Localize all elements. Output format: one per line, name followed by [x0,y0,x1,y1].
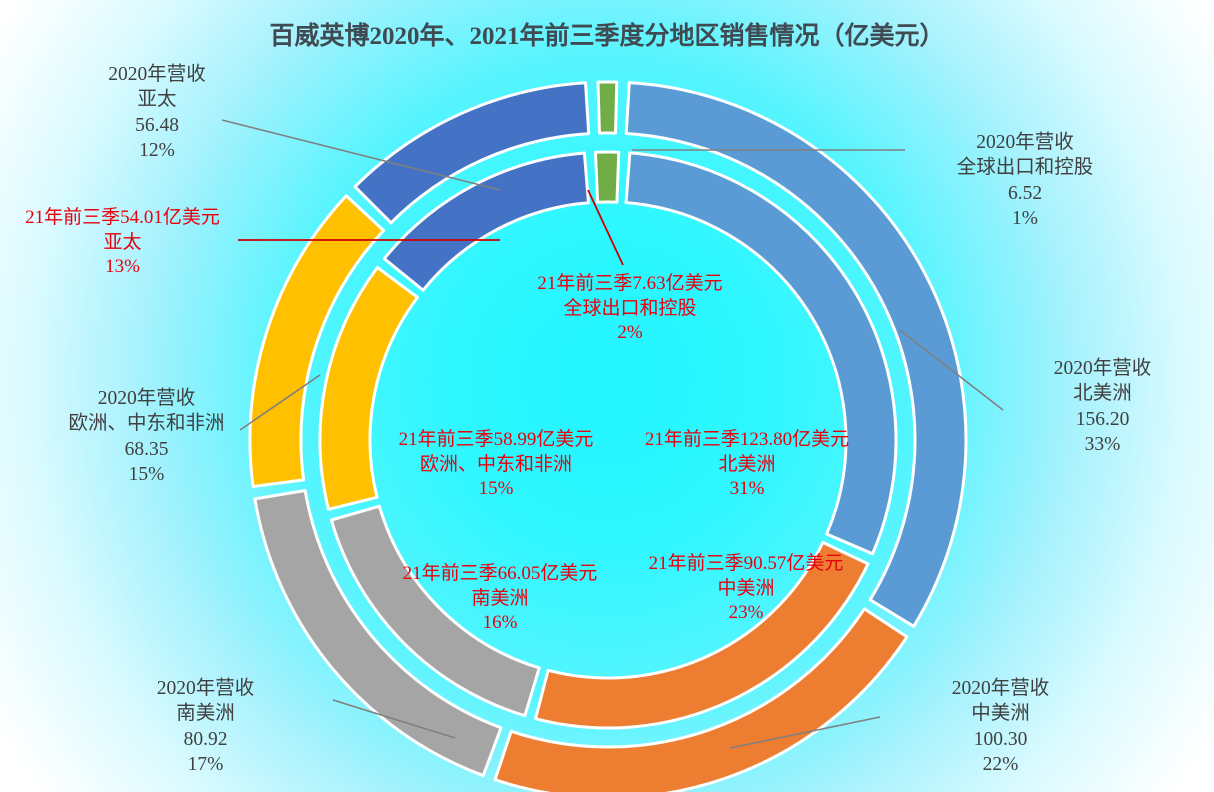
label-percent: 23% [628,601,864,626]
label-percent: 22% [888,752,1113,777]
label-percent: 17% [93,752,318,777]
label-series: 2020年营收 [900,130,1150,155]
label-region: 中美洲 [628,577,864,602]
label-2020-south-america: 2020年营收 南美洲 80.92 17% [93,676,318,777]
label-2020-global-export: 2020年营收 全球出口和控股 6.52 1% [900,130,1150,231]
label-value: 156.20 [995,407,1210,432]
label-value: 21年前三季7.63亿美元 [505,272,755,297]
label-percent: 13% [5,255,240,280]
label-percent: 16% [382,611,618,636]
chart-canvas: 百威英博2020年、2021年前三季度分地区销售情况（亿美元） 2020年营收 … [0,0,1214,792]
label-2020-emea: 2020年营收 欧洲、中东和非洲 68.35 15% [29,386,264,487]
label-2020-asia-pacific: 2020年营收 亚太 56.48 12% [42,62,272,163]
label-percent: 33% [995,432,1210,457]
label-2021-north-america: 21年前三季123.80亿美元 北美洲 31% [625,428,869,502]
label-percent: 1% [900,206,1150,231]
label-region: 中美洲 [888,701,1113,726]
label-percent: 2% [505,321,755,346]
label-value: 100.30 [888,727,1113,752]
label-value: 6.52 [900,181,1150,206]
label-2021-south-america: 21年前三季66.05亿美元 南美洲 16% [382,562,618,636]
label-value: 68.35 [29,437,264,462]
label-region: 南美洲 [93,701,318,726]
label-value: 21年前三季90.57亿美元 [628,552,864,577]
label-2021-central-america: 21年前三季90.57亿美元 中美洲 23% [628,552,864,626]
label-region: 全球出口和控股 [900,155,1150,180]
label-series: 2020年营收 [995,356,1210,381]
slice-inner_ring-0[interactable] [595,152,618,202]
label-value: 56.48 [42,113,272,138]
label-region: 亚太 [5,231,240,256]
slice-outer_ring-0[interactable] [598,82,617,133]
label-value: 21年前三季123.80亿美元 [625,428,869,453]
label-value: 21年前三季66.05亿美元 [382,562,618,587]
label-percent: 15% [29,462,264,487]
label-percent: 31% [625,477,869,502]
label-region: 亚太 [42,87,272,112]
label-series: 2020年营收 [93,676,318,701]
label-region: 欧洲、中东和非洲 [29,411,264,436]
label-2021-global-export: 21年前三季7.63亿美元 全球出口和控股 2% [505,272,755,346]
label-region: 南美洲 [382,587,618,612]
label-region: 北美洲 [625,453,869,478]
label-2020-central-america: 2020年营收 中美洲 100.30 22% [888,676,1113,777]
label-region: 北美洲 [995,381,1210,406]
label-2021-emea: 21年前三季58.99亿美元 欧洲、中东和非洲 15% [378,428,614,502]
label-value: 21年前三季58.99亿美元 [378,428,614,453]
label-2020-north-america: 2020年营收 北美洲 156.20 33% [995,356,1210,457]
label-value: 21年前三季54.01亿美元 [5,206,240,231]
label-2021-asia-pacific: 21年前三季54.01亿美元 亚太 13% [5,206,240,280]
label-series: 2020年营收 [42,62,272,87]
label-value: 80.92 [93,727,318,752]
label-percent: 12% [42,138,272,163]
label-region: 全球出口和控股 [505,297,755,322]
label-series: 2020年营收 [888,676,1113,701]
label-region: 欧洲、中东和非洲 [378,453,614,478]
label-series: 2020年营收 [29,386,264,411]
label-percent: 15% [378,477,614,502]
